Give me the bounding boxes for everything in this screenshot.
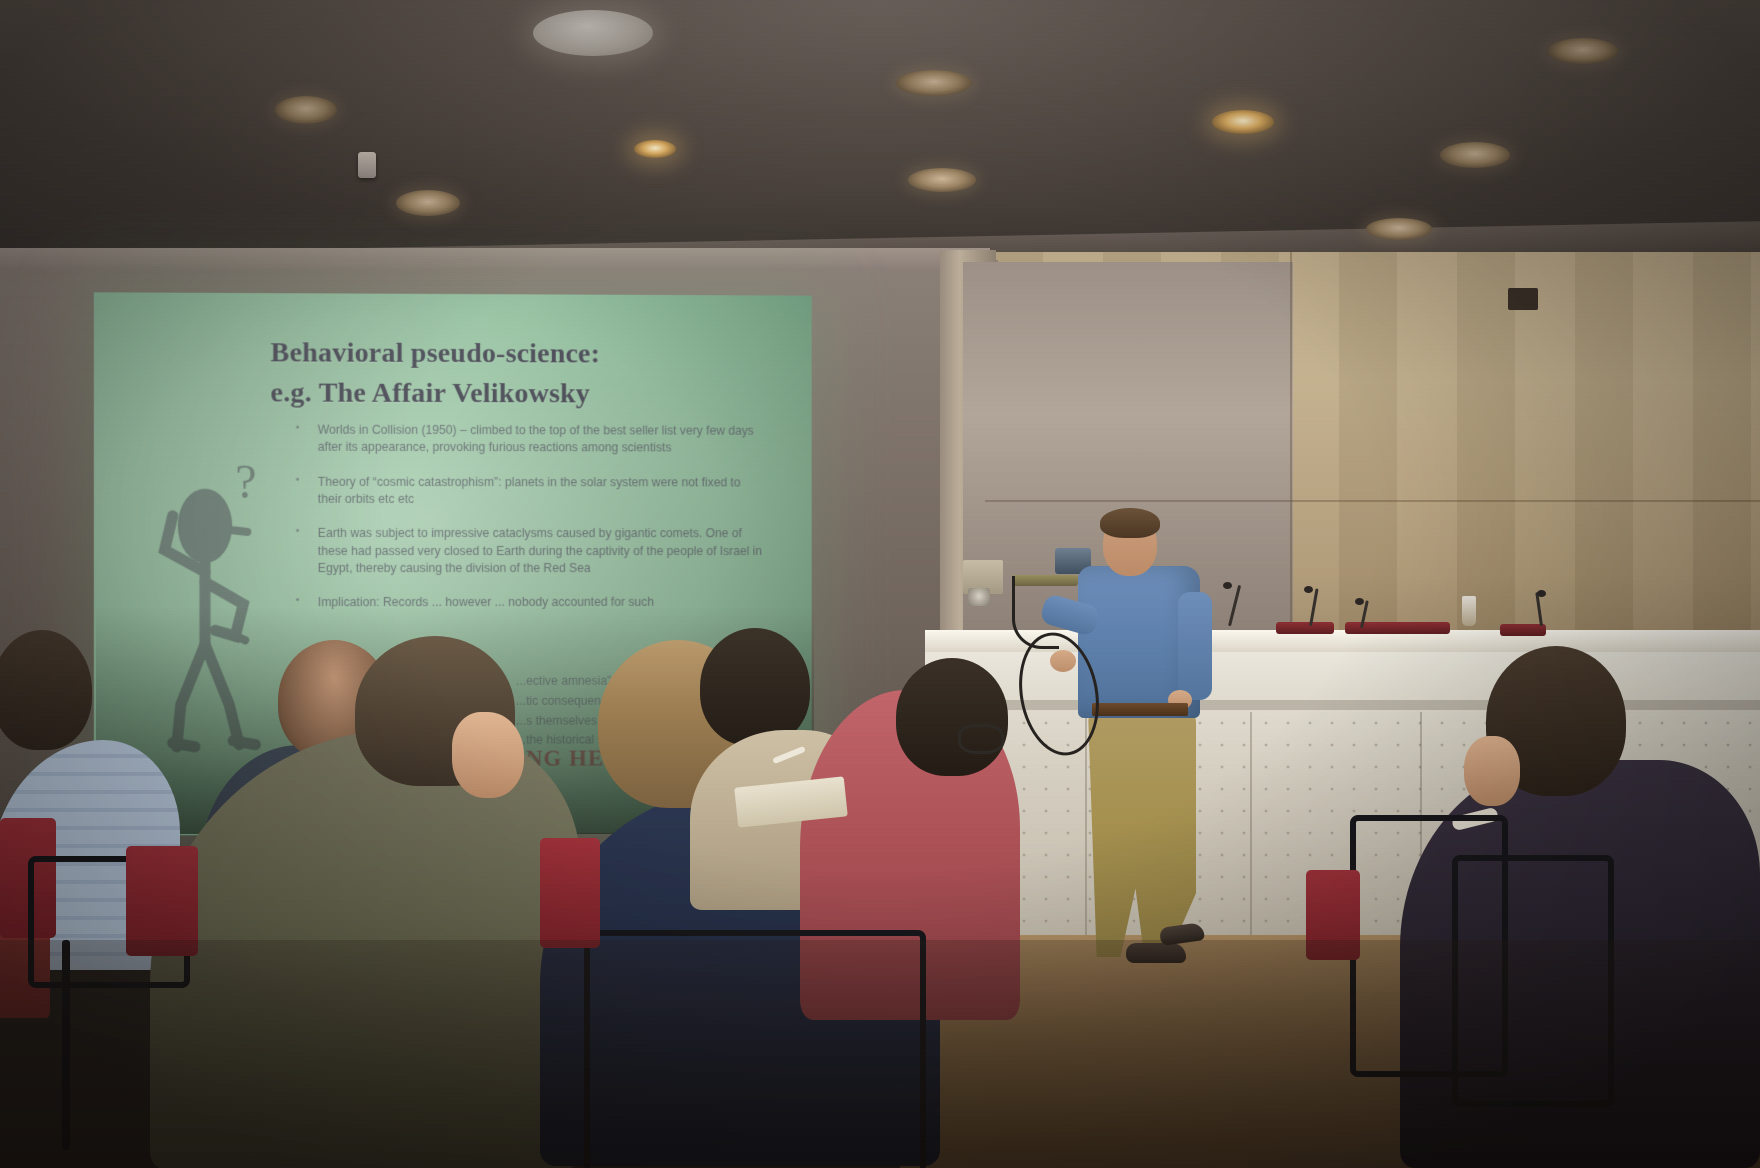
slide-bullet-list: Worlds in Collision (1950) – climbed to … (296, 422, 765, 629)
attendee-right-edge-hand (1464, 736, 1520, 806)
recessed-spot-dim-6 (1366, 218, 1432, 240)
attendee-olive-hand (452, 712, 524, 798)
presenter-cable-lead (1012, 576, 1059, 649)
mic-base-1 (1276, 622, 1334, 634)
desk-divider-2 (1250, 712, 1252, 962)
attendee-salmon-glasses (958, 724, 1004, 754)
recessed-spot-dim-1 (275, 96, 337, 124)
wall-knob (968, 588, 990, 606)
attendee-dark-hair-head (700, 628, 810, 746)
presenter-arm-right (1178, 592, 1212, 700)
mic-head-4 (1537, 590, 1546, 597)
puzzled-stick-figure-icon: ? (142, 453, 273, 755)
wood-seam-1 (1290, 252, 1292, 682)
presenter-trousers (1088, 712, 1196, 957)
slide-bullet-4: Implication: Records ... however ... nob… (296, 594, 765, 612)
recessed-spot-warm-2 (1212, 110, 1274, 134)
mic-head-2 (1304, 586, 1313, 593)
slide-title: Behavioral pseudo-science: e.g. The Affa… (270, 333, 788, 414)
lecture-hall-photo: ? Behavioral pseudo-science: e.g. The Af… (0, 0, 1760, 1168)
mic-base-2 (1345, 622, 1401, 634)
chair-center-seat[interactable] (540, 838, 600, 948)
svg-text:?: ? (235, 456, 256, 509)
recessed-spot-dim-4 (908, 168, 976, 192)
slide-title-line1: Behavioral pseudo-science: (270, 333, 788, 375)
slide-bullet-1: Worlds in Collision (1950) – climbed to … (296, 422, 765, 458)
recessed-spot-dim-2 (396, 190, 460, 216)
recessed-spot-dim-3 (896, 70, 972, 96)
slide-bullet-2: Theory of “cosmic catastrophism”: planet… (296, 473, 765, 508)
slide-title-line2: e.g. The Affair Velikowsky (270, 373, 788, 414)
wall-sensor-box (1508, 288, 1538, 310)
mic-head-3 (1355, 598, 1364, 605)
attendee-plaid-head (0, 630, 92, 750)
mic-base-4 (1500, 624, 1546, 636)
recessed-spot-dim-7 (1548, 38, 1618, 64)
desk-divider-1 (1085, 712, 1087, 962)
flush-dome-light (533, 10, 653, 56)
attendee-salmon-head (896, 658, 1008, 776)
slide-bullet-3: Earth was subject to impressive cataclys… (296, 525, 765, 577)
recessed-spot-warm-1 (634, 140, 676, 158)
ceiling-speaker (358, 152, 376, 178)
mic-base-3 (1396, 622, 1450, 634)
wood-seam-2 (985, 500, 1760, 502)
mic-head-1 (1223, 582, 1232, 589)
foreground-shadow (0, 940, 1760, 1168)
presenter-belt (1092, 703, 1188, 716)
water-glass (1462, 596, 1476, 626)
presenter-hair (1100, 508, 1160, 538)
recessed-spot-dim-5 (1440, 142, 1510, 168)
